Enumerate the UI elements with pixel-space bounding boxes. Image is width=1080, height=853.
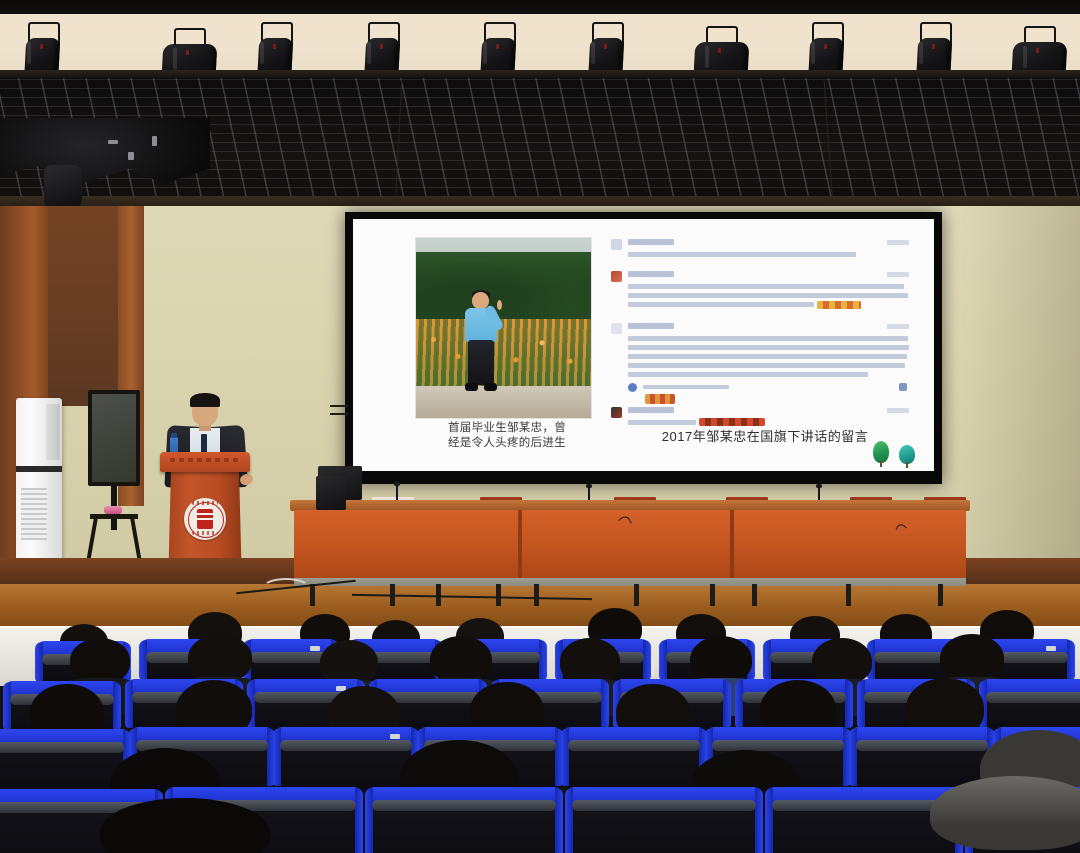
microphone-head-icon bbox=[816, 484, 822, 488]
thread-text-line bbox=[628, 302, 814, 307]
podium-front-lettering bbox=[170, 458, 240, 462]
thread-username bbox=[628, 323, 674, 329]
thread-text-line bbox=[628, 252, 856, 257]
thread-text-line bbox=[628, 372, 868, 377]
monitor-screen[interactable] bbox=[88, 390, 140, 486]
ac-vent-grille bbox=[21, 488, 47, 540]
photo-subject-person bbox=[462, 292, 501, 393]
rigging-highlight bbox=[108, 140, 118, 144]
emoji-run bbox=[699, 418, 765, 426]
seat[interactable] bbox=[566, 732, 702, 790]
thread-text-line bbox=[628, 284, 904, 289]
thumbs-up-icon[interactable] bbox=[899, 383, 907, 391]
thread-timestamp bbox=[887, 240, 909, 245]
table-seam bbox=[730, 510, 734, 580]
wall-bracket bbox=[330, 413, 348, 415]
thread-text-line bbox=[628, 420, 696, 425]
thread-timestamp bbox=[887, 324, 909, 329]
thread-text-line bbox=[628, 336, 908, 341]
slide-caption-left-line1: 首届毕业生邹某忠，曾 bbox=[409, 421, 605, 436]
avatar bbox=[611, 271, 622, 282]
seat[interactable] bbox=[278, 732, 414, 790]
thread-username bbox=[628, 271, 674, 277]
audience-member-foreground bbox=[100, 798, 270, 853]
emoji-run bbox=[645, 394, 675, 404]
audience-member-foreground bbox=[930, 776, 1080, 853]
audience-seating bbox=[0, 600, 1080, 853]
thread-timestamp bbox=[887, 408, 909, 413]
thread-text-line bbox=[628, 293, 908, 298]
seat[interactable] bbox=[570, 792, 758, 853]
microphone-icon bbox=[818, 488, 820, 500]
seat[interactable] bbox=[370, 792, 558, 853]
slide-caption-right: 2017年邹某忠在国旗下讲话的留言 bbox=[615, 429, 915, 445]
avatar bbox=[611, 407, 622, 418]
seat[interactable] bbox=[984, 684, 1080, 732]
photo-treeline bbox=[416, 252, 591, 328]
photo-pavement bbox=[416, 386, 591, 418]
slide-caption-left: 首届毕业生邹某忠，曾 经是令人头疼的后进生 bbox=[409, 421, 605, 451]
seat[interactable] bbox=[0, 734, 126, 792]
rigging-highlight bbox=[128, 152, 134, 160]
pink-item-on-shelf bbox=[104, 506, 122, 514]
wall-shadow-right bbox=[960, 206, 1080, 610]
thread-text-line bbox=[628, 363, 905, 368]
slide-caption-left-line2: 经是令人头疼的后进生 bbox=[409, 436, 605, 451]
microphone-head-icon bbox=[394, 482, 400, 486]
photo-flower-field bbox=[416, 319, 591, 387]
floor-cable bbox=[262, 578, 310, 598]
projection-screen[interactable]: 首届毕业生邹某忠，曾 经是令人头疼的后进生 2017年邹某忠在国旗下讲话的留言 bbox=[353, 219, 934, 471]
air-conditioner bbox=[16, 398, 62, 568]
projection-screen-frame: 首届毕业生邹某忠，曾 经是令人头疼的后进生 2017年邹某忠在国旗下讲话的留言 bbox=[345, 212, 942, 484]
emoji-run bbox=[817, 301, 861, 309]
microphone-icon bbox=[588, 488, 590, 500]
thread-text-line bbox=[628, 345, 909, 350]
slide-photo bbox=[415, 237, 592, 419]
podium-top-surface bbox=[160, 452, 250, 472]
avatar bbox=[611, 239, 622, 250]
rigging-highlight bbox=[152, 136, 157, 146]
like-icon[interactable] bbox=[628, 383, 637, 392]
table-seam bbox=[518, 510, 522, 580]
speaker-box bbox=[316, 476, 346, 510]
microphone-head-icon bbox=[586, 484, 592, 488]
thread-text-line bbox=[628, 354, 907, 359]
ac-panel bbox=[46, 404, 60, 460]
wall-bracket bbox=[330, 405, 348, 407]
auditorium-scene: 首届毕业生邹某忠，曾 经是令人头疼的后进生 2017年邹某忠在国旗下讲话的留言 bbox=[0, 0, 1080, 853]
monitor-on-cart[interactable] bbox=[88, 390, 140, 574]
thread-username bbox=[628, 407, 674, 413]
school-emblem-icon bbox=[184, 498, 226, 540]
thread-like-names bbox=[643, 385, 729, 389]
thread-username bbox=[628, 239, 674, 245]
thread-timestamp bbox=[887, 272, 909, 277]
ac-seam bbox=[16, 466, 62, 472]
microphone-icon bbox=[396, 486, 398, 500]
avatar bbox=[611, 323, 622, 334]
slide-comment-thread bbox=[611, 239, 911, 411]
